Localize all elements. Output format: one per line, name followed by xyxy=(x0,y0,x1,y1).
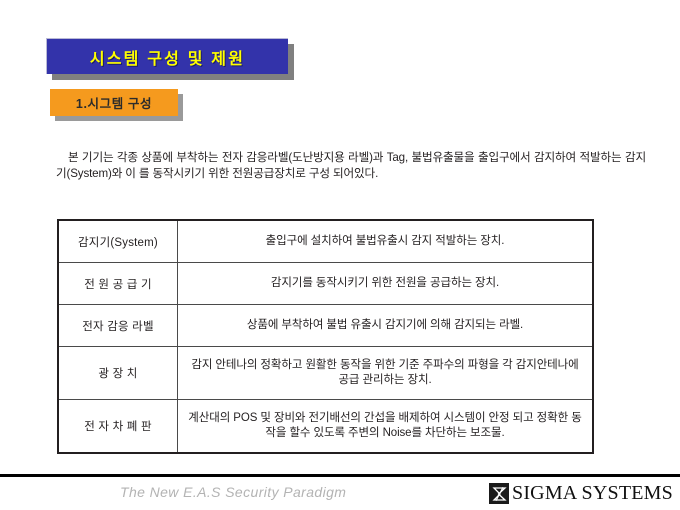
table-cell-term: 전 원 공 급 기 xyxy=(58,263,178,305)
brand-name: SIGMA SYSTEMS xyxy=(512,483,673,504)
footer-tagline: The New E.A.S Security Paradigm xyxy=(120,484,346,500)
subtitle-banner-plate: 1.시그템 구성 xyxy=(50,89,178,116)
table-row: 감지기(System) 출입구에 설치하여 불법유출시 감지 적발하는 장치. xyxy=(58,220,593,263)
table-cell-term: 감지기(System) xyxy=(58,220,178,263)
slide-subtitle-banner: 1.시그템 구성 xyxy=(50,89,178,116)
sigma-logo-icon xyxy=(489,483,509,504)
slide-title-banner: 시스템 구성 및 제원 xyxy=(46,38,288,74)
table-cell-description: 감지기를 동작시키기 위한 전원을 공급하는 장치. xyxy=(178,263,594,305)
table-cell-description: 계산대의 POS 및 장비와 전기배선의 간섭을 배제하여 시스템이 안정 되고… xyxy=(178,400,594,454)
table-cell-description: 상품에 부착하여 불법 유출시 감지기에 의해 감지되는 라벨. xyxy=(178,305,594,347)
table-row: 전 원 공 급 기 감지기를 동작시키기 위한 전원을 공급하는 장치. xyxy=(58,263,593,305)
table-cell-term: 전 자 차 폐 판 xyxy=(58,400,178,454)
table-cell-description: 감지 안테나의 정확하고 원활한 동작을 위한 기준 주파수의 파형을 각 감지… xyxy=(178,347,594,400)
intro-paragraph: 본 기기는 각종 상품에 부착하는 전자 감응라벨(도난방지용 라벨)과 Tag… xyxy=(56,150,646,181)
specification-table: 감지기(System) 출입구에 설치하여 불법유출시 감지 적발하는 장치. … xyxy=(57,219,594,454)
section-heading: 1.시그템 구성 xyxy=(76,93,152,112)
table-row: 광 장 치 감지 안테나의 정확하고 원활한 동작을 위한 기준 주파수의 파형… xyxy=(58,347,593,400)
table-row: 전 자 차 폐 판 계산대의 POS 및 장비와 전기배선의 간섭을 배제하여 … xyxy=(58,400,593,454)
table-cell-term: 광 장 치 xyxy=(58,347,178,400)
table-row: 전자 감응 라벨 상품에 부착하여 불법 유출시 감지기에 의해 감지되는 라벨… xyxy=(58,305,593,347)
table-cell-description: 출입구에 설치하여 불법유출시 감지 적발하는 장치. xyxy=(178,220,594,263)
brand-logo: SIGMA SYSTEMS xyxy=(489,483,673,504)
title-banner-plate: 시스템 구성 및 제원 xyxy=(46,38,288,74)
table-cell-term: 전자 감응 라벨 xyxy=(58,305,178,347)
footer-divider xyxy=(0,474,680,477)
page-title: 시스템 구성 및 제원 xyxy=(90,45,245,69)
